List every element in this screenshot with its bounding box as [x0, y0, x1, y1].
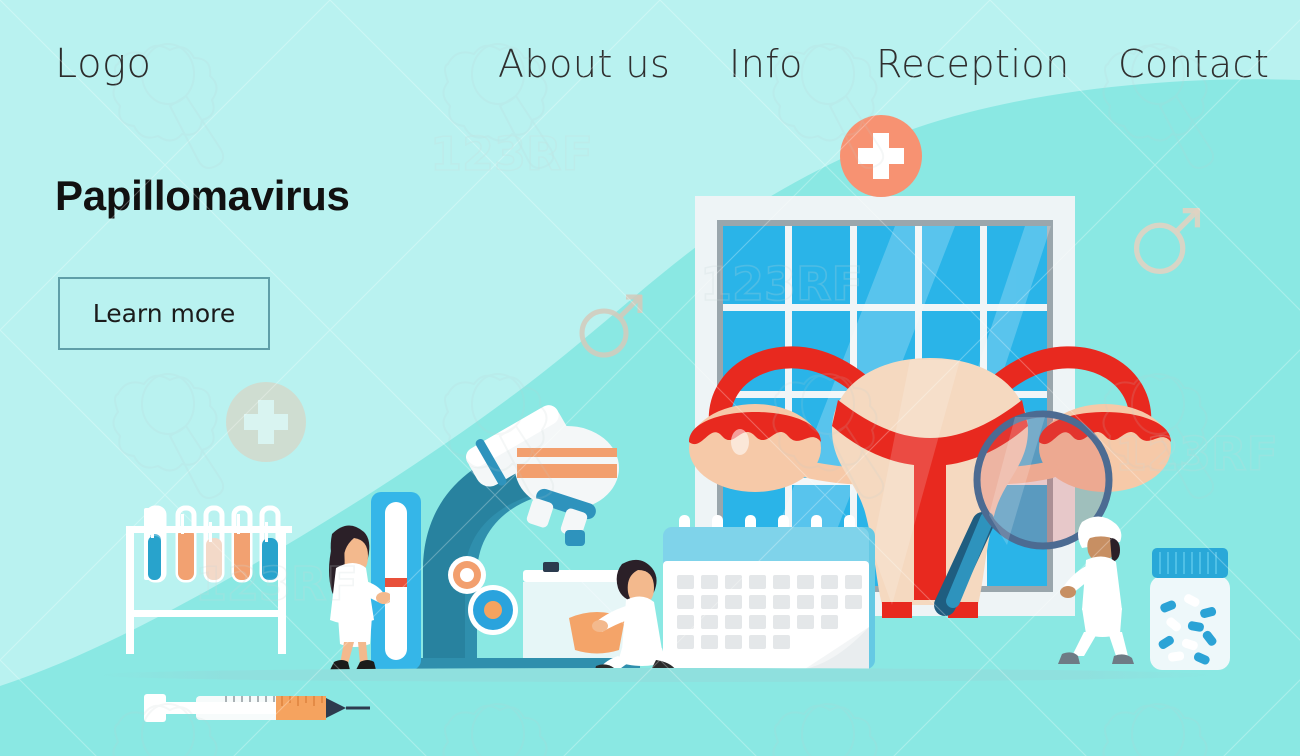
pill-bottle [1140, 546, 1240, 670]
nav-item-reception[interactable]: Reception [876, 45, 1070, 83]
floor-shadow [95, 668, 1215, 682]
learn-more-button[interactable]: Learn more [58, 277, 270, 350]
syringe [140, 680, 370, 736]
logo[interactable]: Logo [55, 44, 152, 84]
mars-symbol-right [1124, 198, 1210, 284]
page-root: Logo About us Info Reception Contact Pap… [0, 0, 1300, 756]
nav-item-info[interactable]: Info [729, 45, 803, 83]
nav-item-contact[interactable]: Contact [1118, 45, 1269, 83]
nav-item-about-us[interactable]: About us [498, 45, 670, 83]
test-tube-rack [120, 500, 295, 660]
page-title: Papillomavirus [55, 172, 350, 220]
medical-cross-badge-faded [218, 374, 314, 470]
doctor-male-microscope [592, 556, 688, 674]
calendar [655, 515, 885, 675]
mars-symbol-left [570, 285, 652, 367]
doctor-female-lab [310, 512, 390, 672]
main-navigation: Logo About us Info Reception Contact [0, 0, 1300, 110]
medical-cross-badge [838, 113, 924, 199]
doctor-male-magnifier [1056, 508, 1146, 673]
